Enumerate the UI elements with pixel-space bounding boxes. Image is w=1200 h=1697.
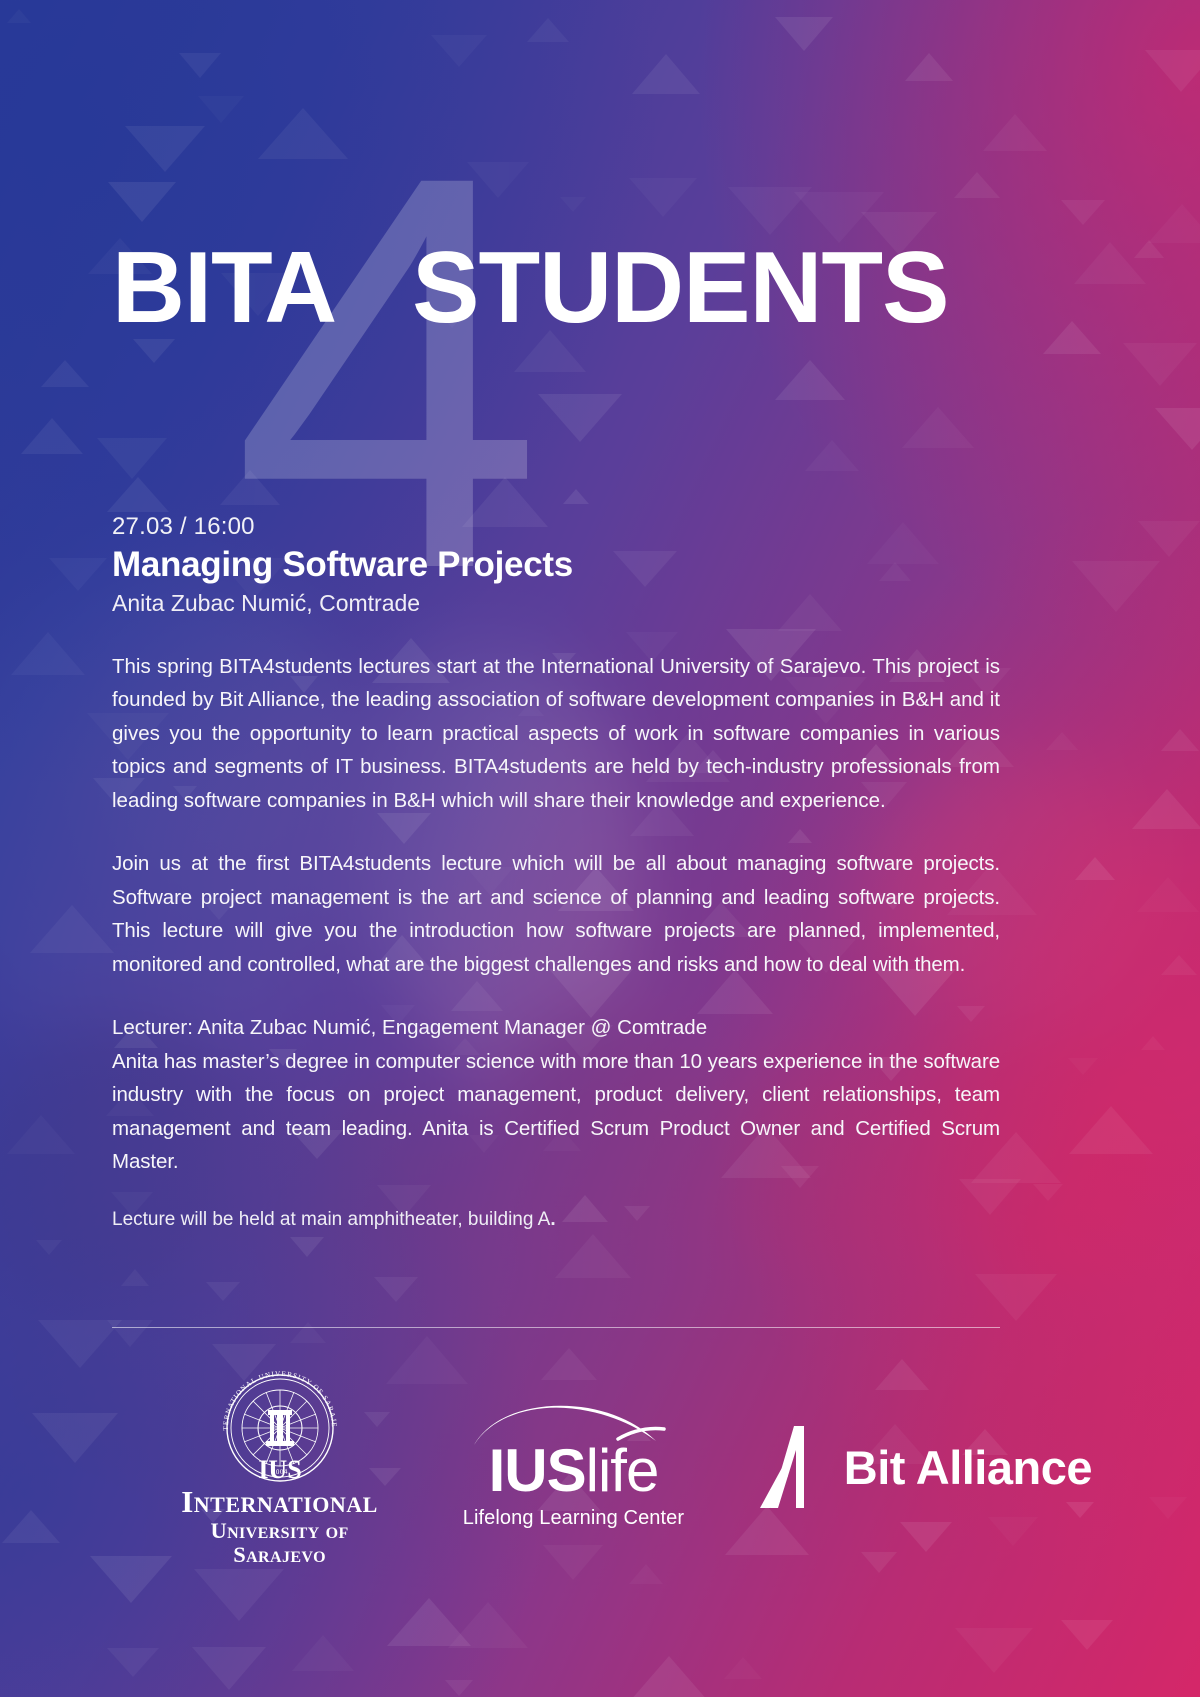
triangle-shape (805, 440, 859, 471)
triangle-shape (555, 1234, 631, 1278)
iuslife-light: life (586, 1437, 659, 1504)
triangle-shape (445, 1680, 473, 1696)
venue-text: Lecture will be held at main amphitheate… (112, 1209, 550, 1230)
triangle-shape (30, 905, 114, 953)
triangle-shape (1161, 729, 1199, 751)
bit-alliance-mark-icon (754, 1424, 826, 1510)
lecturer-bio: Anita has master’s degree in computer sc… (112, 1045, 1000, 1179)
triangle-shape (902, 407, 974, 448)
triangle-shape (527, 18, 569, 42)
triangle-shape (1075, 857, 1115, 880)
triangle-shape (448, 1602, 528, 1648)
triangle-shape (905, 53, 953, 81)
paragraph-intro: This spring BITA4students lectures start… (112, 650, 1000, 818)
triangle-shape (775, 360, 845, 400)
iuslife-wordmark: IUSlife (451, 1441, 696, 1501)
triangle-shape (1061, 1620, 1113, 1650)
venue-period: . (550, 1209, 555, 1230)
venue-note: Lecture will be held at main amphitheate… (112, 1205, 1000, 1235)
ius-seal-icon: INTERNATIONAL UNIVERSITY OF SARAJEVO 200… (210, 1366, 350, 1484)
triangle-shape (1138, 521, 1200, 557)
triangle-shape (290, 1237, 324, 1257)
bit-alliance-logo: Bit Alliance (754, 1424, 1092, 1510)
triangle-shape (7, 1115, 75, 1154)
event-title: Managing Software Projects (112, 544, 1000, 586)
triangle-shape (192, 1647, 266, 1690)
triangle-shape (1141, 1036, 1165, 1050)
bit-alliance-name: Bit Alliance (844, 1440, 1092, 1495)
lecturer-line: Lecturer: Anita Zubac Numić, Engagement … (112, 1011, 1000, 1045)
triangle-shape (11, 632, 85, 675)
triangle-shape (125, 126, 205, 172)
triangle-shape (32, 1413, 118, 1463)
triangle-shape (374, 1277, 418, 1302)
triangle-shape (1145, 50, 1200, 92)
footer-logos: INTERNATIONAL UNIVERSITY OF SARAJEVO 200… (112, 1352, 1092, 1582)
triangle-shape (1134, 240, 1164, 258)
triangle-shape (630, 1656, 708, 1697)
triangle-shape (954, 172, 1000, 198)
triangle-shape (49, 558, 107, 591)
paragraph-lecture-topic: Join us at the first BITA4students lectu… (112, 847, 1000, 981)
triangle-shape (108, 182, 176, 222)
triangle-shape (107, 477, 169, 512)
ius-logo-line2: University of Sarajevo (170, 1519, 389, 1569)
triangle-shape (1149, 1497, 1187, 1519)
triangle-shape (563, 489, 589, 504)
triangle-shape (107, 1648, 159, 1677)
triangle-shape (1137, 877, 1199, 912)
triangle-shape (2, 1510, 60, 1543)
ius-logo-line1: International (170, 1486, 389, 1519)
triangle-shape (1046, 732, 1078, 750)
triangle-shape (179, 53, 221, 78)
triangle-shape (1061, 200, 1105, 225)
brand-suffix: STUDENTS (412, 232, 948, 344)
triangle-shape (983, 114, 1047, 151)
body-copy: This spring BITA4students lectures start… (112, 650, 1000, 1235)
triangle-shape (1072, 561, 1160, 612)
ius-logo: INTERNATIONAL UNIVERSITY OF SARAJEVO 200… (170, 1366, 389, 1568)
triangle-shape (955, 1628, 1033, 1673)
triangle-shape (632, 54, 700, 94)
triangle-shape (775, 17, 833, 51)
triangle-shape (560, 197, 586, 212)
triangle-shape (290, 1322, 326, 1343)
triangle-shape (1155, 408, 1200, 450)
triangle-shape (1069, 1106, 1153, 1154)
triangle-shape (7, 9, 31, 23)
triangle-shape (206, 1282, 240, 1301)
triangle-shape (1068, 1058, 1098, 1075)
triangle-shape (97, 438, 167, 479)
event-speaker: Anita Zubac Numić, Comtrade (112, 589, 1000, 618)
triangle-shape (724, 1657, 762, 1679)
triangle-shape (1161, 955, 1197, 975)
event-datetime: 27.03 / 16:00 (112, 512, 1000, 542)
triangle-shape (538, 394, 622, 442)
iuslife-tagline: Lifelong Learning Center (451, 1506, 696, 1530)
triangle-shape (121, 1269, 149, 1286)
page-title: BITASTUDENTS (112, 238, 1092, 339)
brand-name: BITA (112, 232, 336, 344)
triangle-shape (629, 178, 697, 217)
triangle-shape (1148, 204, 1200, 243)
triangle-shape (21, 418, 83, 454)
triangle-shape (1033, 1184, 1063, 1201)
svg-text:IUS: IUS (258, 1455, 301, 1484)
poster-root: 4 BITASTUDENTS 27.03 / 16:00 Managing So… (0, 0, 1200, 1697)
triangle-shape (107, 1320, 153, 1347)
triangle-shape (1132, 789, 1200, 829)
iuslife-bold: IUS (489, 1437, 586, 1504)
triangle-shape (36, 1240, 62, 1255)
triangle-shape (975, 1274, 1057, 1321)
triangle-shape (292, 1635, 354, 1671)
content-block: 27.03 / 16:00 Managing Software Projects… (112, 512, 1000, 1235)
lecturer-block: Lecturer: Anita Zubac Numić, Engagement … (112, 1011, 1000, 1179)
triangle-shape (1123, 343, 1197, 386)
triangle-shape (41, 360, 89, 387)
iuslife-logo: IUSlife Lifelong Learning Center (451, 1405, 696, 1530)
footer-divider (112, 1327, 1000, 1328)
